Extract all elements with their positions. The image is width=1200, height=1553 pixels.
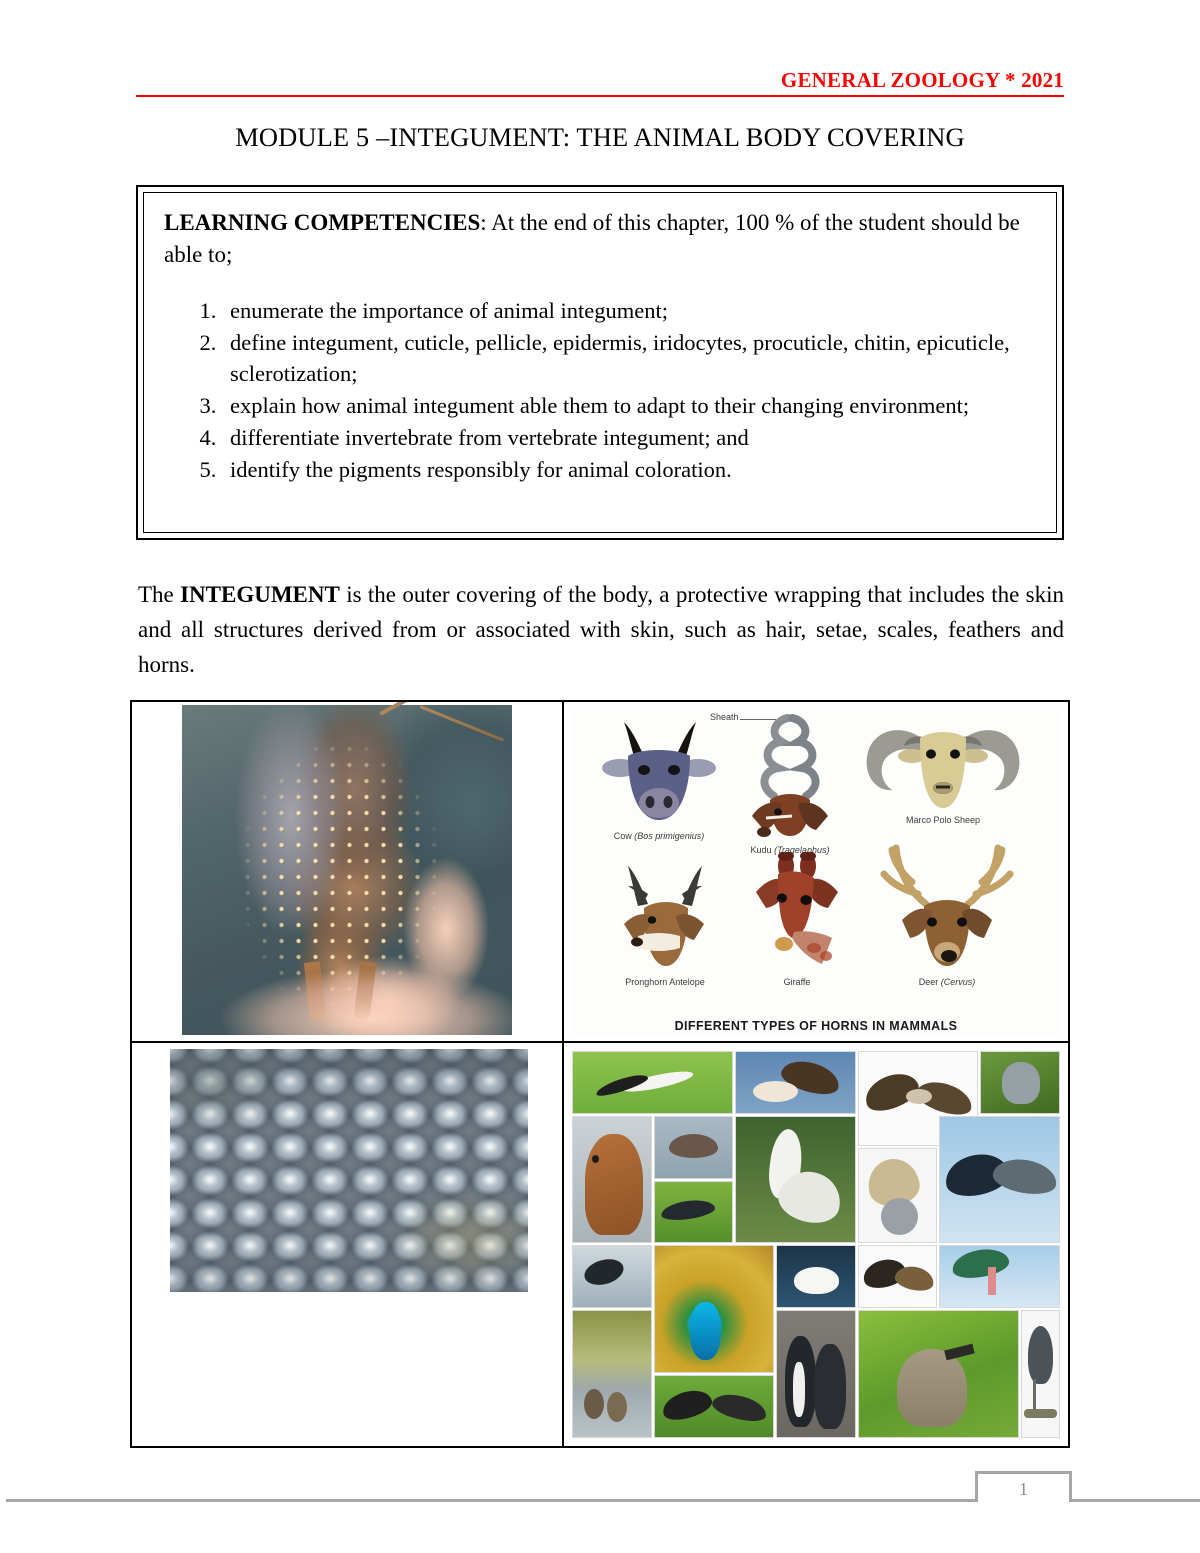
figure-cell-birds [564, 1043, 1068, 1446]
list-item: define integument, cuticle, pellicle, ep… [222, 328, 1036, 390]
bird-tile [776, 1310, 856, 1438]
bird-tile [939, 1245, 1060, 1308]
integument-term: INTEGUMENT [180, 582, 340, 607]
intro-paragraph: The INTEGUMENT is the outer covering of … [138, 578, 1064, 683]
page-title: MODULE 5 –INTEGUMENT: THE ANIMAL BODY CO… [136, 122, 1064, 153]
bird-shape [659, 1386, 714, 1424]
horn-specimen-grid: Core Sheath [570, 706, 1062, 998]
bird-tile [776, 1245, 856, 1308]
bird-tile [735, 1116, 856, 1244]
sheep-head-icon [850, 716, 1036, 814]
learning-competencies-inner-frame: LEARNING COMPETENCIES: At the end of thi… [143, 192, 1057, 533]
list-item: enumerate the importance of animal integ… [222, 296, 1036, 327]
bird-tile [939, 1116, 1060, 1244]
bird-tile [654, 1375, 775, 1438]
bird-shape [607, 1392, 627, 1422]
bird-shape [669, 1134, 719, 1158]
horn-specimen-kudu: Kudu (Tragelaphus) [725, 712, 855, 855]
cow-head-icon [598, 718, 720, 830]
bird-shape [581, 1255, 627, 1290]
peacock-shape [690, 1302, 721, 1360]
figure-cell-horns: Core Sheath [564, 702, 1068, 1043]
horns-diagram-caption: DIFFERENT TYPES OF HORNS IN MAMMALS [570, 1019, 1062, 1033]
horn-specimen-giraffe: Giraffe [732, 852, 862, 987]
bird-shape [1002, 1062, 1041, 1105]
paragraph-lead: The [138, 582, 180, 607]
scale-color-tint [170, 1049, 528, 1292]
bird-tile [572, 1051, 733, 1114]
penguin-belly-shape [793, 1362, 805, 1417]
bird-shape [897, 1349, 967, 1427]
horn-types-diagram: Core Sheath [570, 706, 1062, 1037]
list-item: differentiate invertebrate from vertebra… [222, 423, 1036, 454]
deer-head-icon [864, 834, 1030, 976]
horn-specimen-label: Marco Polo Sheep [848, 815, 1038, 825]
page-header: GENERAL ZOOLOGY * 2021 [136, 68, 1064, 102]
running-head: GENERAL ZOOLOGY * 2021 [781, 68, 1064, 93]
crustacean-claw-photo [182, 705, 512, 1035]
page-number-tab: 1 [975, 1471, 1072, 1502]
bird-tile [572, 1310, 652, 1438]
bird-shape [585, 1134, 642, 1235]
bird-shape [794, 1267, 839, 1294]
bird-tile [572, 1116, 652, 1244]
horn-specimen-pronghorn: Pronghorn Antelope [600, 858, 730, 987]
bird-feathers-collage [570, 1049, 1062, 1440]
figure-grid-table: Core Sheath [130, 700, 1070, 1448]
bird-tile [735, 1051, 856, 1114]
bird-tile [572, 1245, 652, 1308]
bird-tile [1021, 1310, 1060, 1438]
learning-competencies-heading: LEARNING COMPETENCIES [164, 210, 480, 235]
horn-specimen-cow: Cow (Bos primigenius) [594, 718, 724, 841]
horn-specimen-marco-polo-sheep: Marco Polo Sheep [848, 716, 1038, 825]
fish-scales-photo [170, 1049, 528, 1292]
bird-tile [858, 1148, 938, 1243]
heron-shape [1028, 1326, 1053, 1384]
bird-shape [753, 1081, 798, 1102]
list-item: identify the pigments responsibly for an… [222, 455, 1036, 486]
horn-specimen-label: Giraffe [732, 977, 862, 987]
branch-shape [1024, 1409, 1056, 1418]
kudu-head-icon [730, 712, 850, 844]
learning-competencies-list: enumerate the importance of animal integ… [164, 296, 1036, 485]
header-rule [136, 95, 1064, 97]
page-footer: 1 [0, 1472, 1200, 1516]
horn-specimen-deer: Deer (Cervus) [862, 834, 1032, 987]
bird-shape [710, 1389, 768, 1425]
bird-shape [660, 1197, 716, 1223]
bird-tile [654, 1181, 734, 1244]
finger-shape [202, 956, 512, 1035]
bird-shape [584, 1389, 604, 1419]
bird-shape [950, 1245, 1011, 1281]
bird-tile [980, 1051, 1060, 1114]
giraffe-head-icon [736, 852, 858, 976]
figure-cell-fish-scales [132, 1043, 564, 1446]
learning-competencies-intro: LEARNING COMPETENCIES: At the end of thi… [164, 207, 1036, 270]
pronghorn-head-icon [604, 858, 726, 976]
list-item: explain how animal integument able them … [222, 391, 1036, 422]
horn-specimen-label: Cow (Bos primigenius) [594, 831, 724, 841]
figure-cell-crustacean [132, 702, 564, 1043]
learning-competencies-box: LEARNING COMPETENCIES: At the end of thi… [136, 185, 1064, 540]
bird-tile [858, 1245, 938, 1308]
bird-tile [654, 1245, 775, 1373]
bird-leg-shape [988, 1267, 996, 1295]
bird-tile [858, 1310, 1019, 1438]
bird-shape [881, 1198, 918, 1235]
page-number: 1 [1019, 1479, 1028, 1499]
penguin-shape [814, 1344, 845, 1429]
bird-tile [654, 1116, 734, 1179]
bird-beak-shape [944, 1343, 974, 1360]
horn-specimen-label: Pronghorn Antelope [600, 977, 730, 987]
horn-specimen-label: Deer (Cervus) [862, 977, 1032, 987]
